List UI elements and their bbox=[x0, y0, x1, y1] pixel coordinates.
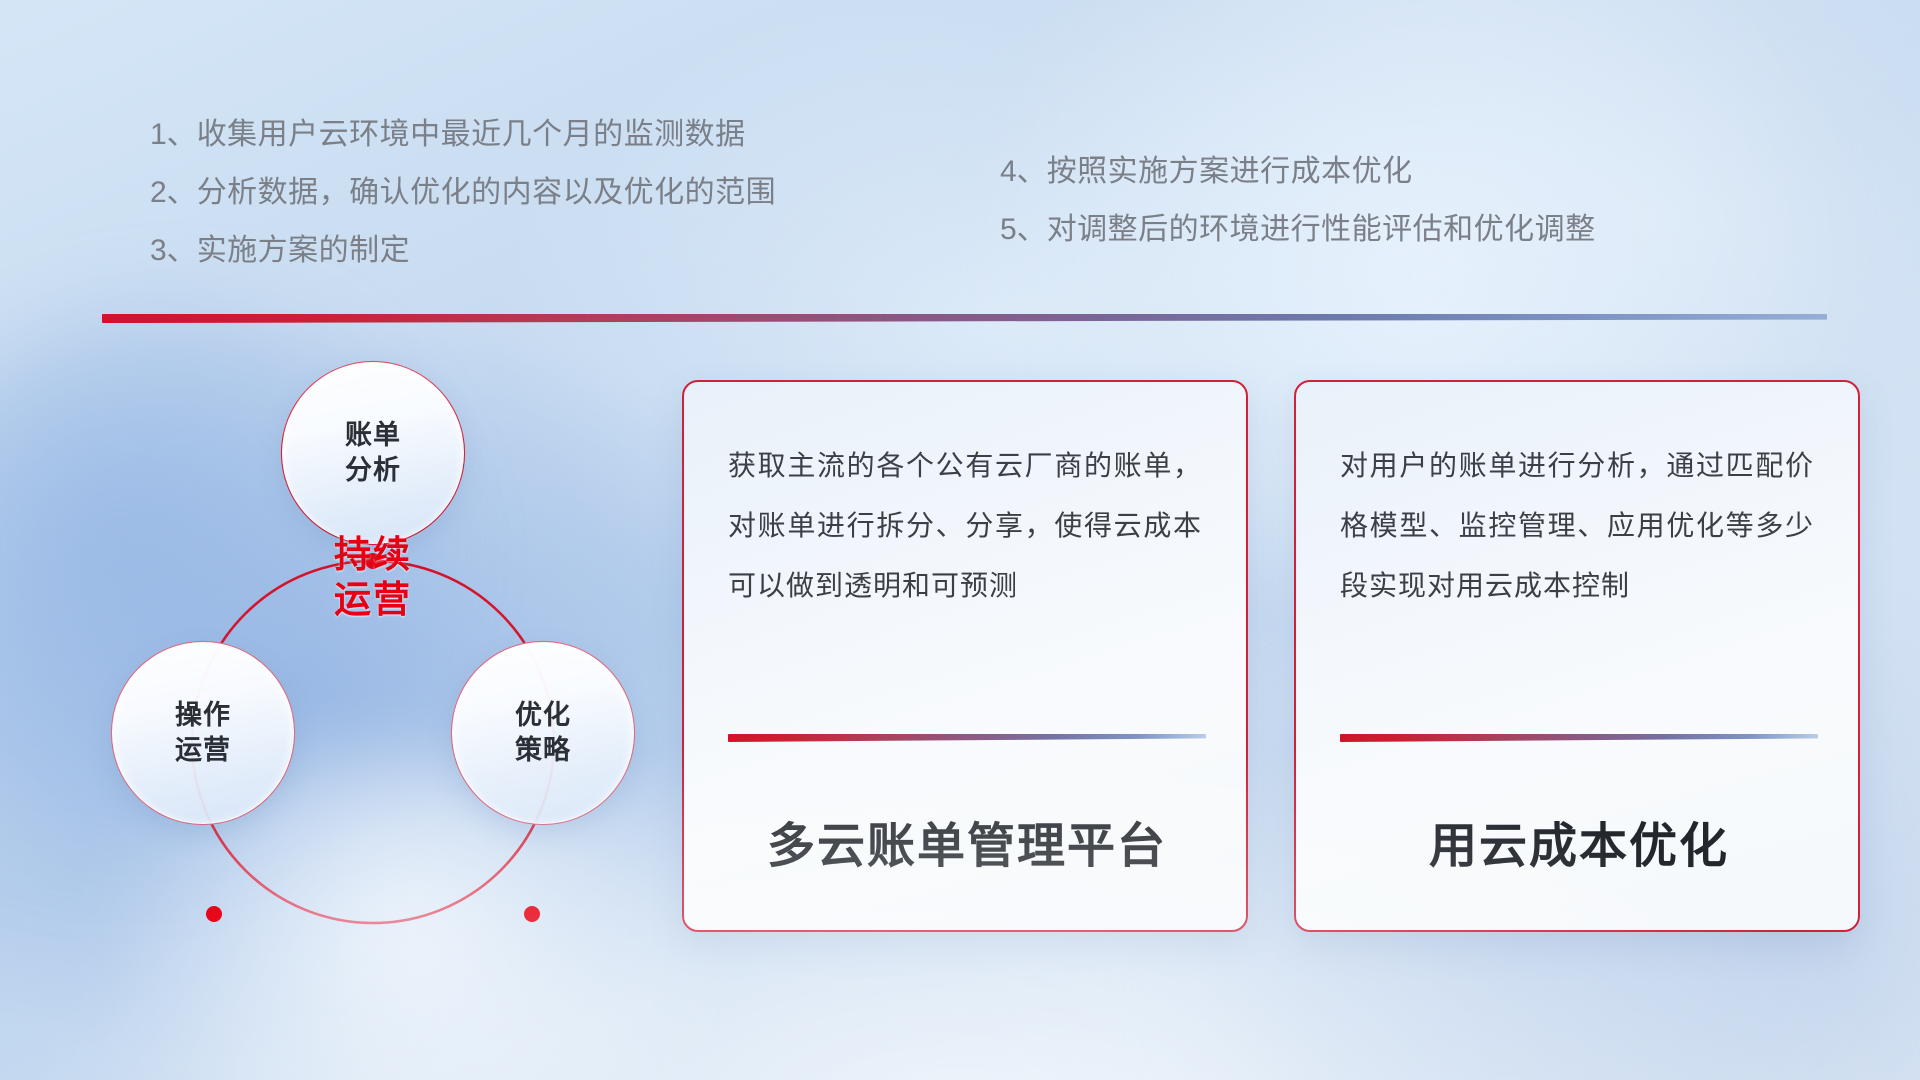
card-cloud-cost-optimization[interactable]: 对用户的账单进行分析，通过匹配价格模型、监控管理、应用优化等多少段实现对用云成本… bbox=[1294, 380, 1860, 932]
center-label-line1: 持续 bbox=[282, 532, 464, 577]
step-number: 4、 bbox=[1000, 155, 1047, 188]
steps-right-column: 4、按照实施方案进行成本优化 5、对调整后的环境进行性能评估和优化调整 bbox=[1000, 157, 1596, 245]
step-number: 1、 bbox=[150, 118, 197, 151]
bubble-operation-ops[interactable]: 操作 运营 bbox=[112, 642, 294, 824]
bubble-label-line1: 优化 bbox=[515, 698, 571, 733]
card-divider-rule bbox=[1340, 734, 1818, 742]
step-item: 4、按照实施方案进行成本优化 bbox=[1000, 157, 1596, 187]
bubble-label-line1: 操作 bbox=[175, 698, 231, 733]
step-text: 实施方案的制定 bbox=[197, 234, 411, 267]
card-title: 多云账单管理平台 bbox=[728, 821, 1206, 874]
step-item: 1、收集用户云环境中最近几个月的监测数据 bbox=[150, 120, 776, 150]
step-text: 对调整后的环境进行性能评估和优化调整 bbox=[1047, 213, 1596, 246]
step-number: 2、 bbox=[150, 176, 197, 209]
venn-diagram: 账单 分析 操作 运营 优化 策略 持续 运营 bbox=[96, 352, 626, 952]
step-text: 收集用户云环境中最近几个月的监测数据 bbox=[197, 118, 746, 151]
step-text: 按照实施方案进行成本优化 bbox=[1047, 155, 1413, 188]
card-title: 用云成本优化 bbox=[1340, 821, 1818, 874]
step-item: 5、对调整后的环境进行性能评估和优化调整 bbox=[1000, 215, 1596, 245]
bubble-label-line1: 账单 bbox=[345, 418, 401, 453]
header-divider-rule bbox=[102, 314, 1827, 323]
center-label-line2: 运营 bbox=[282, 577, 464, 622]
step-item: 2、分析数据，确认优化的内容以及优化的范围 bbox=[150, 178, 776, 208]
step-item: 3、实施方案的制定 bbox=[150, 236, 776, 266]
venn-node-right bbox=[524, 906, 540, 922]
venn-node-left bbox=[206, 906, 222, 922]
bubble-label-line2: 运营 bbox=[175, 733, 231, 768]
card-divider-rule bbox=[728, 734, 1206, 742]
bubble-label-line2: 分析 bbox=[345, 453, 401, 488]
steps-left-column: 1、收集用户云环境中最近几个月的监测数据 2、分析数据，确认优化的内容以及优化的… bbox=[150, 120, 776, 266]
bubble-label-line2: 策略 bbox=[515, 733, 571, 768]
bubble-bill-analysis[interactable]: 账单 分析 bbox=[282, 362, 464, 544]
step-text: 分析数据，确认优化的内容以及优化的范围 bbox=[197, 176, 777, 209]
card-body-text: 获取主流的各个公有云厂商的账单，对账单进行拆分、分享，使得云成本可以做到透明和可… bbox=[728, 436, 1202, 616]
card-body-text: 对用户的账单进行分析，通过匹配价格模型、监控管理、应用优化等多少段实现对用云成本… bbox=[1340, 436, 1814, 616]
step-number: 3、 bbox=[150, 234, 197, 267]
slide-canvas: 1、收集用户云环境中最近几个月的监测数据 2、分析数据，确认优化的内容以及优化的… bbox=[0, 0, 1920, 1080]
bubble-optimization-policy[interactable]: 优化 策略 bbox=[452, 642, 634, 824]
venn-center-label: 持续 运营 bbox=[282, 532, 464, 622]
card-multi-cloud-billing-platform[interactable]: 获取主流的各个公有云厂商的账单，对账单进行拆分、分享，使得云成本可以做到透明和可… bbox=[682, 380, 1248, 932]
step-number: 5、 bbox=[1000, 213, 1047, 246]
